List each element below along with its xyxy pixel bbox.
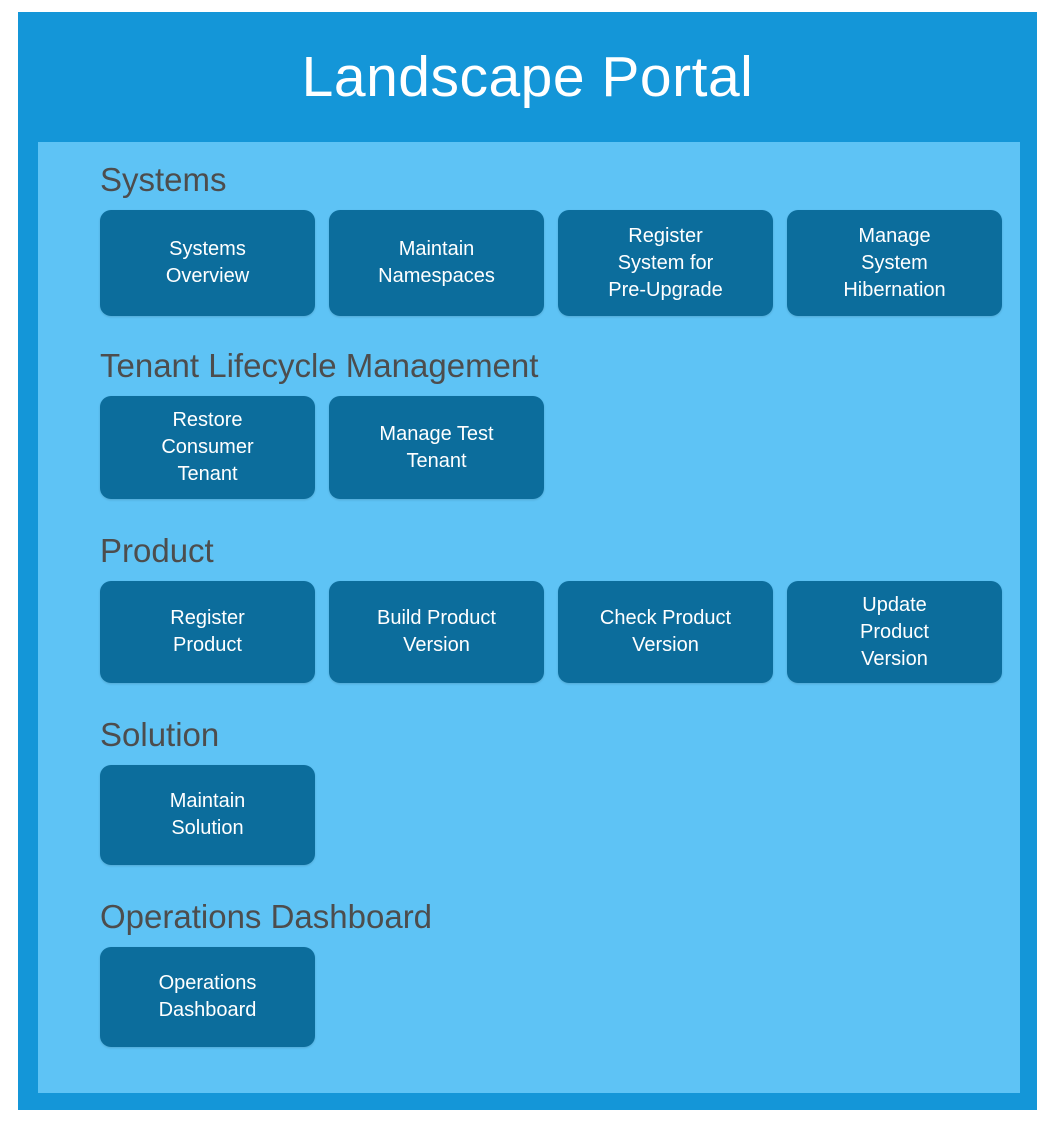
- tile-build-product-version[interactable]: Build Product Version: [329, 581, 544, 683]
- section-heading-product: Product: [100, 529, 1020, 573]
- section-tenant-lifecycle-management: Tenant Lifecycle Management Restore Cons…: [38, 344, 1020, 499]
- section-heading-operations-dashboard: Operations Dashboard: [100, 895, 1020, 939]
- tile-update-product-version[interactable]: Update Product Version: [787, 581, 1002, 683]
- tile-maintain-solution[interactable]: Maintain Solution: [100, 765, 315, 865]
- section-heading-systems: Systems: [100, 158, 1020, 202]
- section-operations-dashboard: Operations Dashboard Operations Dashboar…: [38, 895, 1020, 1047]
- tile-row-solution: Maintain Solution: [100, 765, 1020, 865]
- tile-register-product[interactable]: Register Product: [100, 581, 315, 683]
- section-solution: Solution Maintain Solution: [38, 713, 1020, 865]
- tile-row-operations-dashboard: Operations Dashboard: [100, 947, 1020, 1047]
- section-heading-solution: Solution: [100, 713, 1020, 757]
- tile-manage-system-hibernation[interactable]: Manage System Hibernation: [787, 210, 1002, 316]
- section-heading-tenant-lifecycle-management: Tenant Lifecycle Management: [100, 344, 1020, 388]
- tile-manage-test-tenant[interactable]: Manage Test Tenant: [329, 396, 544, 499]
- tile-systems-overview[interactable]: Systems Overview: [100, 210, 315, 316]
- tile-row-product: Register Product Build Product Version C…: [100, 581, 1020, 683]
- page-title: Landscape Portal: [18, 12, 1037, 142]
- tile-register-system-for-pre-upgrade[interactable]: Register System for Pre-Upgrade: [558, 210, 773, 316]
- portal-content-panel: Systems Systems Overview Maintain Namesp…: [38, 142, 1020, 1093]
- section-product: Product Register Product Build Product V…: [38, 529, 1020, 683]
- tile-maintain-namespaces[interactable]: Maintain Namespaces: [329, 210, 544, 316]
- section-systems: Systems Systems Overview Maintain Namesp…: [38, 158, 1020, 316]
- tile-check-product-version[interactable]: Check Product Version: [558, 581, 773, 683]
- portal-frame: Landscape Portal Systems Systems Overvie…: [18, 12, 1037, 1110]
- tile-operations-dashboard[interactable]: Operations Dashboard: [100, 947, 315, 1047]
- tile-restore-consumer-tenant[interactable]: Restore Consumer Tenant: [100, 396, 315, 499]
- tile-row-systems: Systems Overview Maintain Namespaces Reg…: [100, 210, 1020, 316]
- tile-row-tenant-lifecycle-management: Restore Consumer Tenant Manage Test Tena…: [100, 396, 1020, 499]
